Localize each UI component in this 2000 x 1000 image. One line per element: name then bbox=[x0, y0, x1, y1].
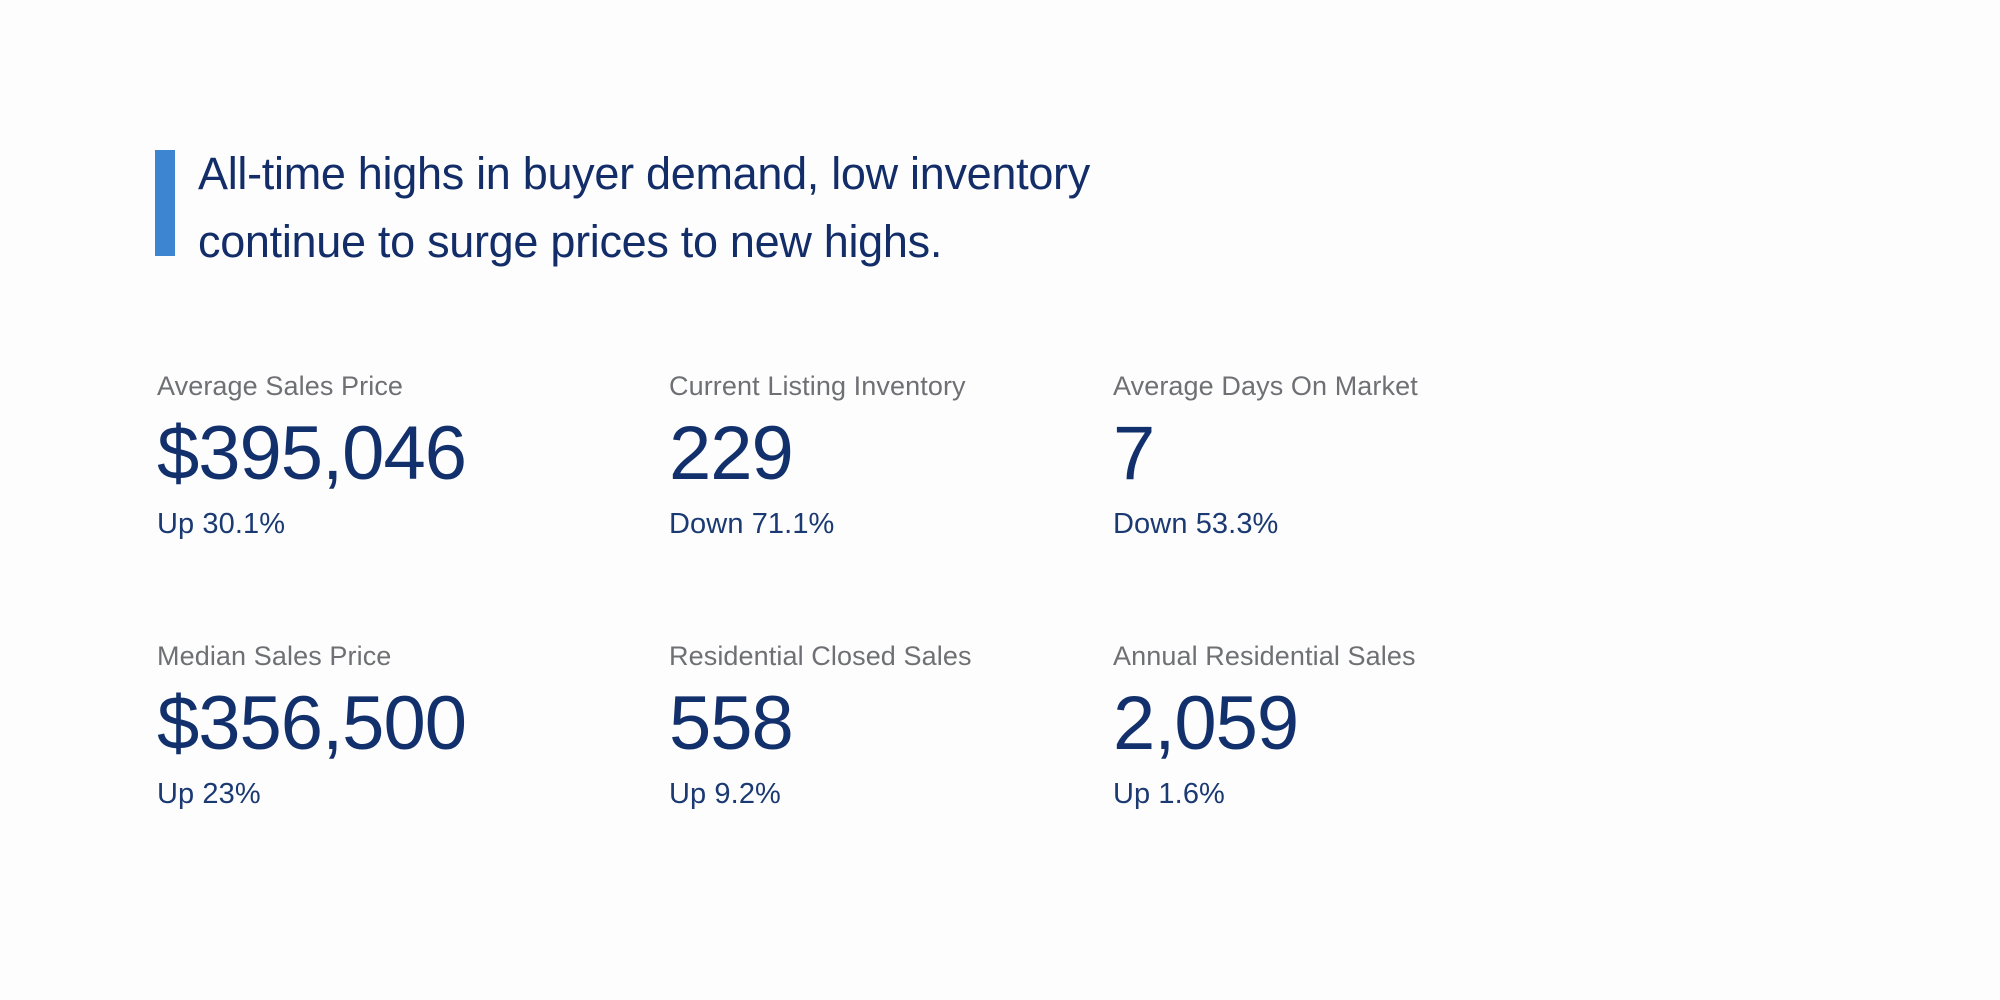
stat-value: 2,059 bbox=[1113, 681, 1557, 767]
stat-label: Residential Closed Sales bbox=[669, 640, 1113, 672]
stat-change: Up 23% bbox=[157, 777, 669, 811]
stat-label: Average Days On Market bbox=[1113, 370, 1557, 402]
market-stats-slide: All-time highs in buyer demand, low inve… bbox=[0, 0, 2000, 1000]
stat-card-average-days-on-market: Average Days On Market 7 Down 53.3% bbox=[1113, 370, 1557, 541]
stat-change: Up 30.1% bbox=[157, 507, 669, 541]
stat-label: Current Listing Inventory bbox=[669, 370, 1113, 402]
stat-label: Average Sales Price bbox=[157, 370, 669, 402]
stat-value: $395,046 bbox=[157, 411, 669, 497]
stat-card-current-listing-inventory: Current Listing Inventory 229 Down 71.1% bbox=[669, 370, 1113, 541]
stat-card-average-sales-price: Average Sales Price $395,046 Up 30.1% bbox=[157, 370, 669, 541]
stat-change: Up 9.2% bbox=[669, 777, 1113, 811]
stat-change: Up 1.6% bbox=[1113, 777, 1557, 811]
headline-block: All-time highs in buyer demand, low inve… bbox=[155, 140, 1090, 276]
stat-value: $356,500 bbox=[157, 681, 669, 767]
page-title: All-time highs in buyer demand, low inve… bbox=[198, 140, 1090, 276]
stat-change: Down 71.1% bbox=[669, 507, 1113, 541]
stat-change: Down 53.3% bbox=[1113, 507, 1557, 541]
stat-card-residential-closed-sales: Residential Closed Sales 558 Up 9.2% bbox=[669, 640, 1113, 811]
stats-grid: Average Sales Price $395,046 Up 30.1% Cu… bbox=[157, 370, 1657, 811]
stat-card-median-sales-price: Median Sales Price $356,500 Up 23% bbox=[157, 640, 669, 811]
stat-value: 7 bbox=[1113, 411, 1557, 497]
accent-bar bbox=[155, 150, 175, 256]
stat-value: 229 bbox=[669, 411, 1113, 497]
stat-label: Median Sales Price bbox=[157, 640, 669, 672]
stat-card-annual-residential-sales: Annual Residential Sales 2,059 Up 1.6% bbox=[1113, 640, 1557, 811]
stat-value: 558 bbox=[669, 681, 1113, 767]
stat-label: Annual Residential Sales bbox=[1113, 640, 1557, 672]
